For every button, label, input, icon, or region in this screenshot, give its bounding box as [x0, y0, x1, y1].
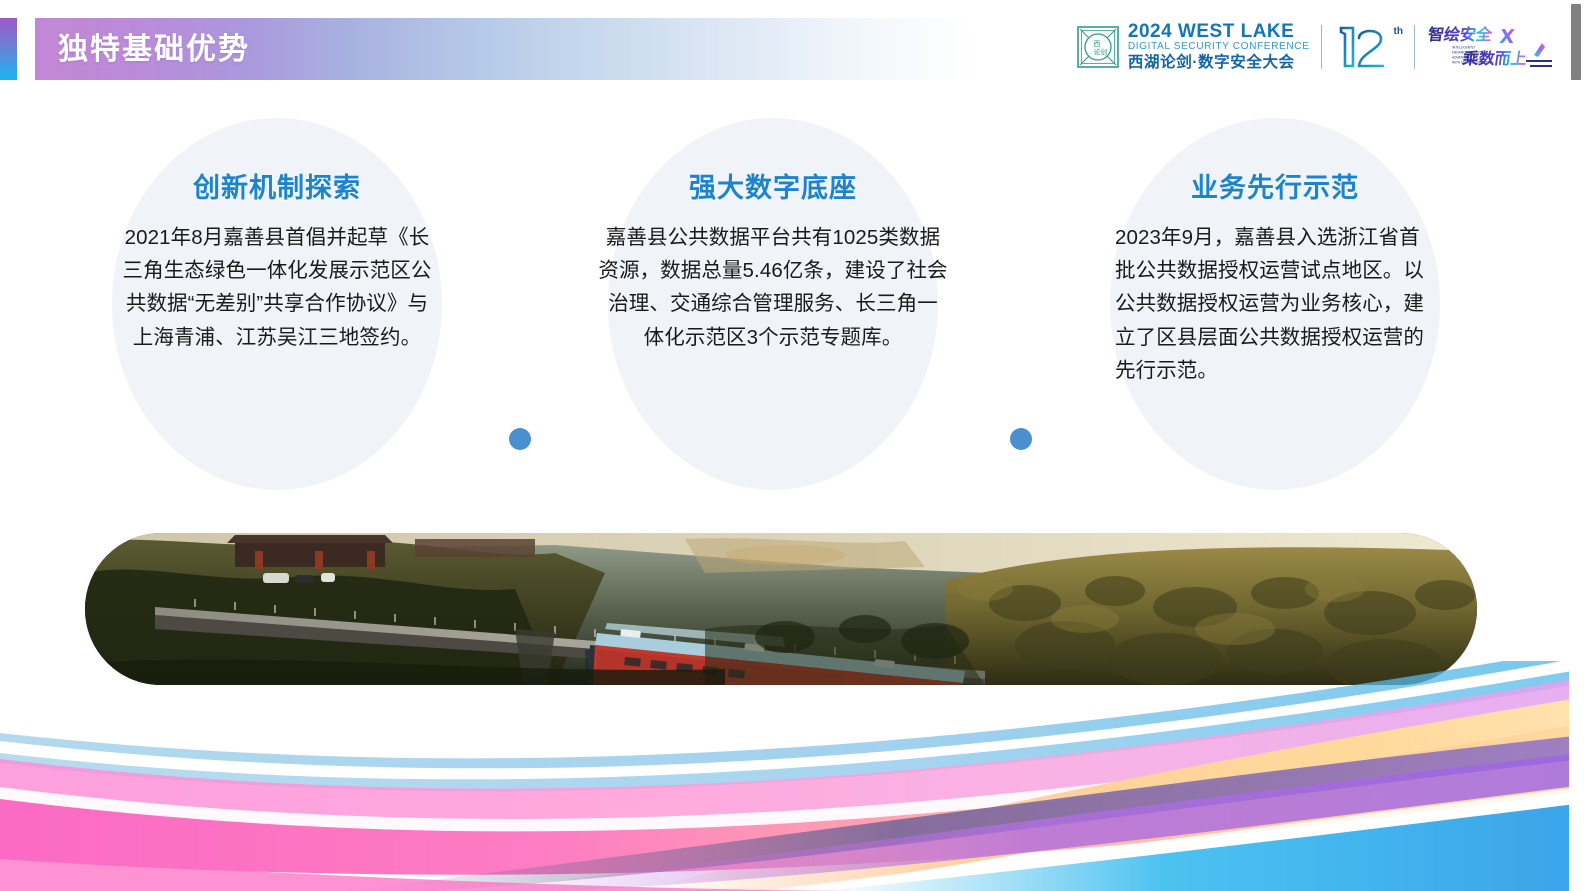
svg-text:智绘安全: 智绘安全	[1427, 25, 1495, 44]
slide-root: 独特基础优势 西 论 剑 2024 WEST LAKE DIGITAL	[0, 0, 1584, 891]
bottom-decoration-ribbons	[0, 661, 1584, 891]
conference-name-en: 2024 WEST LAKE	[1128, 22, 1310, 41]
west-lake-seal-icon: 西 论 剑	[1075, 24, 1121, 70]
logo-divider-2	[1414, 25, 1415, 69]
feature-card-1-title: 创新机制探索	[193, 166, 361, 205]
feature-card-3-title: 业务先行示范	[1191, 166, 1359, 205]
svg-text:INTELLIGENTLY: INTELLIGENTLY	[1452, 46, 1475, 50]
logo-lockup: 西 论 剑 2024 WEST LAKE DIGITAL SECURITY CO…	[1075, 16, 1558, 78]
svg-text:WITH DIGITAL COMPUTING: WITH DIGITAL COMPUTING	[1452, 61, 1494, 65]
svg-text:ENHANCE SECURITY: ENHANCE SECURITY	[1452, 51, 1483, 55]
conference-subtitle-en: DIGITAL SECURITY CONFERENCE	[1128, 41, 1310, 54]
svg-text:ADVANCING: ADVANCING	[1452, 56, 1471, 60]
scenery-photo	[85, 533, 1477, 685]
feature-card-3: 业务先行示范 2023年9月，嘉善县入选浙江省首批公共数据授权运营试点地区。以公…	[1110, 118, 1440, 490]
feature-card-1: 创新机制探索 2021年8月嘉善县首倡并起草《长三角生态绿色一体化发展示范区公共…	[112, 118, 442, 490]
conference-wordmark: 2024 WEST LAKE DIGITAL SECURITY CONFEREN…	[1128, 22, 1310, 72]
feature-card-2-body: 嘉善县公共数据平台共有1025类数据资源，数据总量5.46亿条，建设了社会治理、…	[598, 221, 948, 354]
vertical-scrollbar-track[interactable]	[1569, 0, 1584, 891]
separator-dot-1	[509, 428, 531, 450]
logo-divider-1	[1321, 25, 1322, 69]
feature-card-3-body: 2023年9月，嘉善县入选浙江省首批公共数据授权运营试点地区。以公共数据授权运营…	[1115, 221, 1435, 387]
separator-dot-2	[1010, 428, 1032, 450]
svg-text:剑: 剑	[1100, 48, 1107, 57]
svg-text:论: 论	[1093, 48, 1100, 57]
svg-text:西: 西	[1093, 40, 1100, 48]
page-title: 独特基础优势	[58, 24, 250, 76]
slogan-logo: 智绘安全 X 乘数而上 INTELLIGENTLY ENHANCE SECURI…	[1426, 21, 1558, 73]
conference-logo: 西 论 剑 2024 WEST LAKE DIGITAL SECURITY CO…	[1075, 22, 1310, 72]
header-accent-bar	[0, 18, 17, 80]
svg-text:X: X	[1498, 25, 1516, 48]
conference-name-zh: 西湖论剑·数字安全大会	[1128, 54, 1310, 72]
feature-card-2-title: 强大数字底座	[689, 166, 857, 205]
edition-badge: th	[1333, 22, 1403, 72]
feature-card-1-body: 2021年8月嘉善县首倡并起草《长三角生态绿色一体化发展示范区公共数据“无差别”…	[118, 221, 436, 354]
feature-card-2: 强大数字底座 嘉善县公共数据平台共有1025类数据资源，数据总量5.46亿条，建…	[608, 118, 938, 490]
edition-ordinal: th	[1394, 26, 1403, 37]
feature-circles: 创新机制探索 2021年8月嘉善县首倡并起草《长三角生态绿色一体化发展示范区公共…	[0, 118, 1584, 498]
vertical-scrollbar-thumb[interactable]	[1571, 4, 1581, 80]
